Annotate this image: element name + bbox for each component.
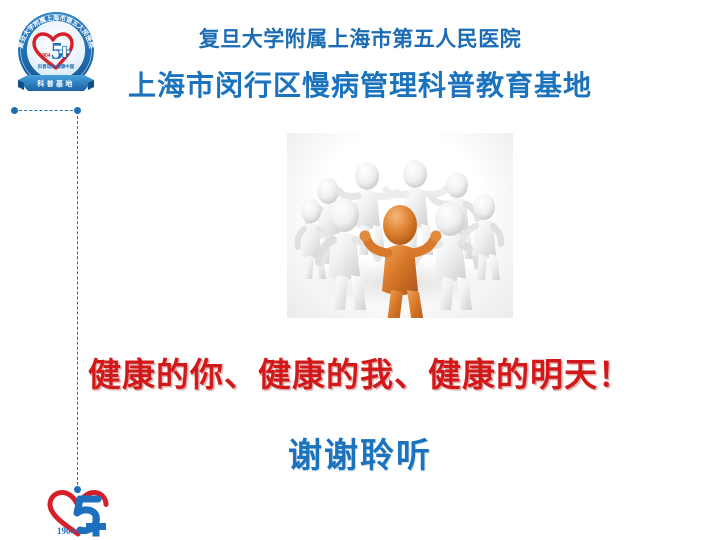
footer-logo-year: 1904 (57, 526, 76, 536)
footer-hospital-logo: 1904 (42, 486, 116, 538)
page-title: 上海市闵行区慢病管理科普教育基地 (0, 68, 720, 103)
hospital-name-title: 复旦大学附属上海市第五人民医院 (0, 27, 720, 52)
people-circle-illustration (287, 133, 513, 318)
slide-canvas: 复旦大学附属上海市第五人民医院 · · · 5 1904 科普动力 健康中国 (0, 0, 720, 540)
badge-year: 1904 (39, 53, 50, 59)
decoration-dot-corner (74, 107, 81, 114)
decoration-dot-left (11, 107, 18, 114)
thanks-text: 谢谢聆听 (0, 428, 720, 477)
decoration-line-horizontal (14, 110, 78, 111)
medical-cross-icon (86, 517, 106, 537)
health-slogan: 健康的你、健康的我、健康的明天！ (0, 348, 720, 396)
